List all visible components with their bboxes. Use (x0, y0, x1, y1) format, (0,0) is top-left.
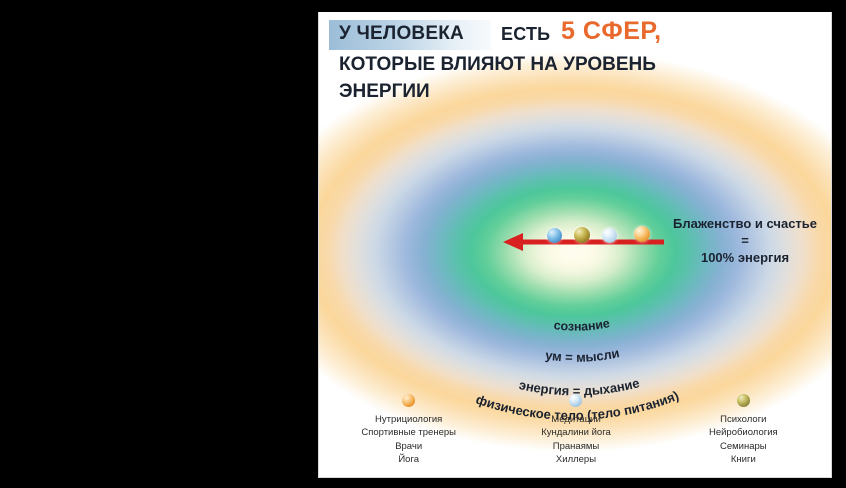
ring-label-1: сознание (553, 316, 611, 334)
column-line: Медитации (492, 413, 659, 426)
headline-part2-text: ЕСТЬ (501, 25, 550, 43)
column-line: Спортивные тренеры (325, 426, 492, 439)
screenshot-root: сознание ум = мысли энергия = дыхание фи… (0, 0, 846, 488)
column-line: Нейробиология (660, 426, 827, 439)
column-line: Кундалини йога (492, 426, 659, 439)
olive-dot-icon (737, 394, 750, 407)
annotation-line-3: 100% энергия (655, 249, 832, 266)
headline-line-3: ЭНЕРГИИ (339, 81, 430, 103)
column-nutrition: Нутрициология Спортивные тренеры Врачи Й… (325, 394, 492, 478)
annotation-block: Блаженство и счастье = 100% энергия (655, 215, 832, 266)
column-psychology: Психологи Нейробиология Семинары Книги (660, 394, 827, 478)
sphere-orange (634, 226, 650, 242)
sphere-blue-2 (602, 228, 617, 243)
headline-line-2: КОТОРЫЕ ВЛИЯЮТ НА УРОВЕНЬ (339, 54, 656, 76)
sphere-olive (574, 227, 590, 243)
column-line: Пранаямы (492, 440, 659, 453)
headline: У ЧЕЛОВЕКА ЕСТЬ 5 СФЕР, КОТОРЫЕ ВЛИЯЮТ Н… (329, 20, 829, 50)
column-line: Семинары (660, 440, 827, 453)
column-line: Хиллеры (492, 453, 659, 466)
slide-card: сознание ум = мысли энергия = дыхание фи… (318, 12, 832, 478)
orange-dot-icon (402, 394, 415, 407)
sphere-blue-1 (547, 228, 562, 243)
ring-label-2: ум = мысли (544, 345, 620, 365)
blue-dot-icon (569, 394, 582, 407)
column-line: Книги (660, 453, 827, 466)
column-line: Йога (325, 453, 492, 466)
headline-accent-text: 5 СФЕР, (561, 19, 662, 44)
headline-highlighted-text: У ЧЕЛОВЕКА (339, 24, 464, 43)
column-line: Нутрициология (325, 413, 492, 426)
annotation-line-1: Блаженство и счастье (655, 215, 832, 232)
column-meditation: Медитации Кундалини йога Пранаямы Хиллер… (492, 394, 659, 478)
bottom-columns: Нутрициология Спортивные тренеры Врачи Й… (325, 394, 827, 478)
column-line: Психологи (660, 413, 827, 426)
column-line: Врачи (325, 440, 492, 453)
annotation-line-2: = (655, 232, 832, 249)
headline-line-1: У ЧЕЛОВЕКА ЕСТЬ 5 СФЕР, (329, 20, 829, 50)
